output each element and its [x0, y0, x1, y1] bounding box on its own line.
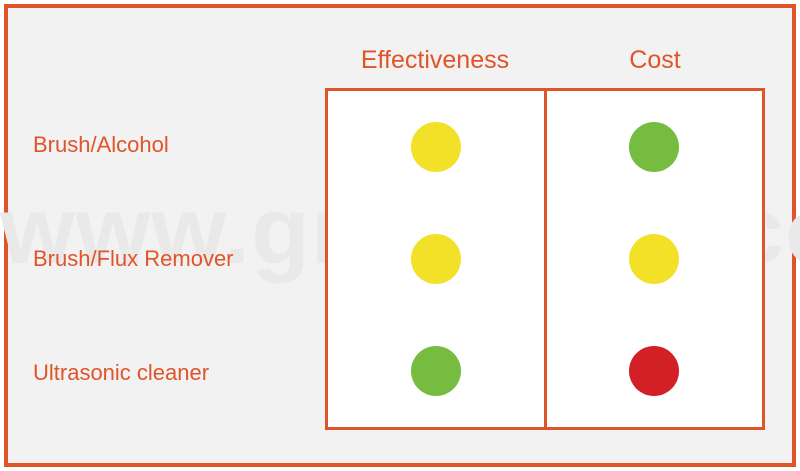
rating-dot-icon	[629, 122, 679, 172]
matrix-cell-brush-flux-remover-cost	[547, 203, 763, 315]
column-header-effectiveness: Effectiveness	[325, 38, 545, 82]
row-label-ultrasonic-cleaner: Ultrasonic cleaner	[33, 316, 318, 430]
row-label-brush-flux-remover: Brush/Flux Remover	[33, 202, 318, 316]
rating-dot-icon	[411, 234, 461, 284]
matrix-column-cost	[544, 91, 763, 427]
column-header-row: Effectiveness Cost	[325, 38, 765, 82]
rating-dot-icon	[411, 346, 461, 396]
matrix-cell-brush-alcohol-effectiveness	[328, 91, 544, 203]
rating-dot-icon	[629, 346, 679, 396]
row-label-brush-alcohol: Brush/Alcohol	[33, 88, 318, 202]
matrix-cell-brush-flux-remover-effectiveness	[328, 203, 544, 315]
matrix-cell-brush-alcohol-cost	[547, 91, 763, 203]
rating-matrix	[325, 88, 765, 430]
comparison-matrix-figure: www.greattong.com Effectiveness Cost Bru…	[0, 0, 800, 471]
rating-dot-icon	[629, 234, 679, 284]
matrix-cell-ultrasonic-cleaner-cost	[547, 315, 763, 427]
matrix-column-effectiveness	[328, 91, 544, 427]
rating-dot-icon	[411, 122, 461, 172]
column-header-cost: Cost	[545, 38, 765, 82]
matrix-cell-ultrasonic-cleaner-effectiveness	[328, 315, 544, 427]
row-label-column: Brush/Alcohol Brush/Flux Remover Ultraso…	[33, 88, 318, 430]
